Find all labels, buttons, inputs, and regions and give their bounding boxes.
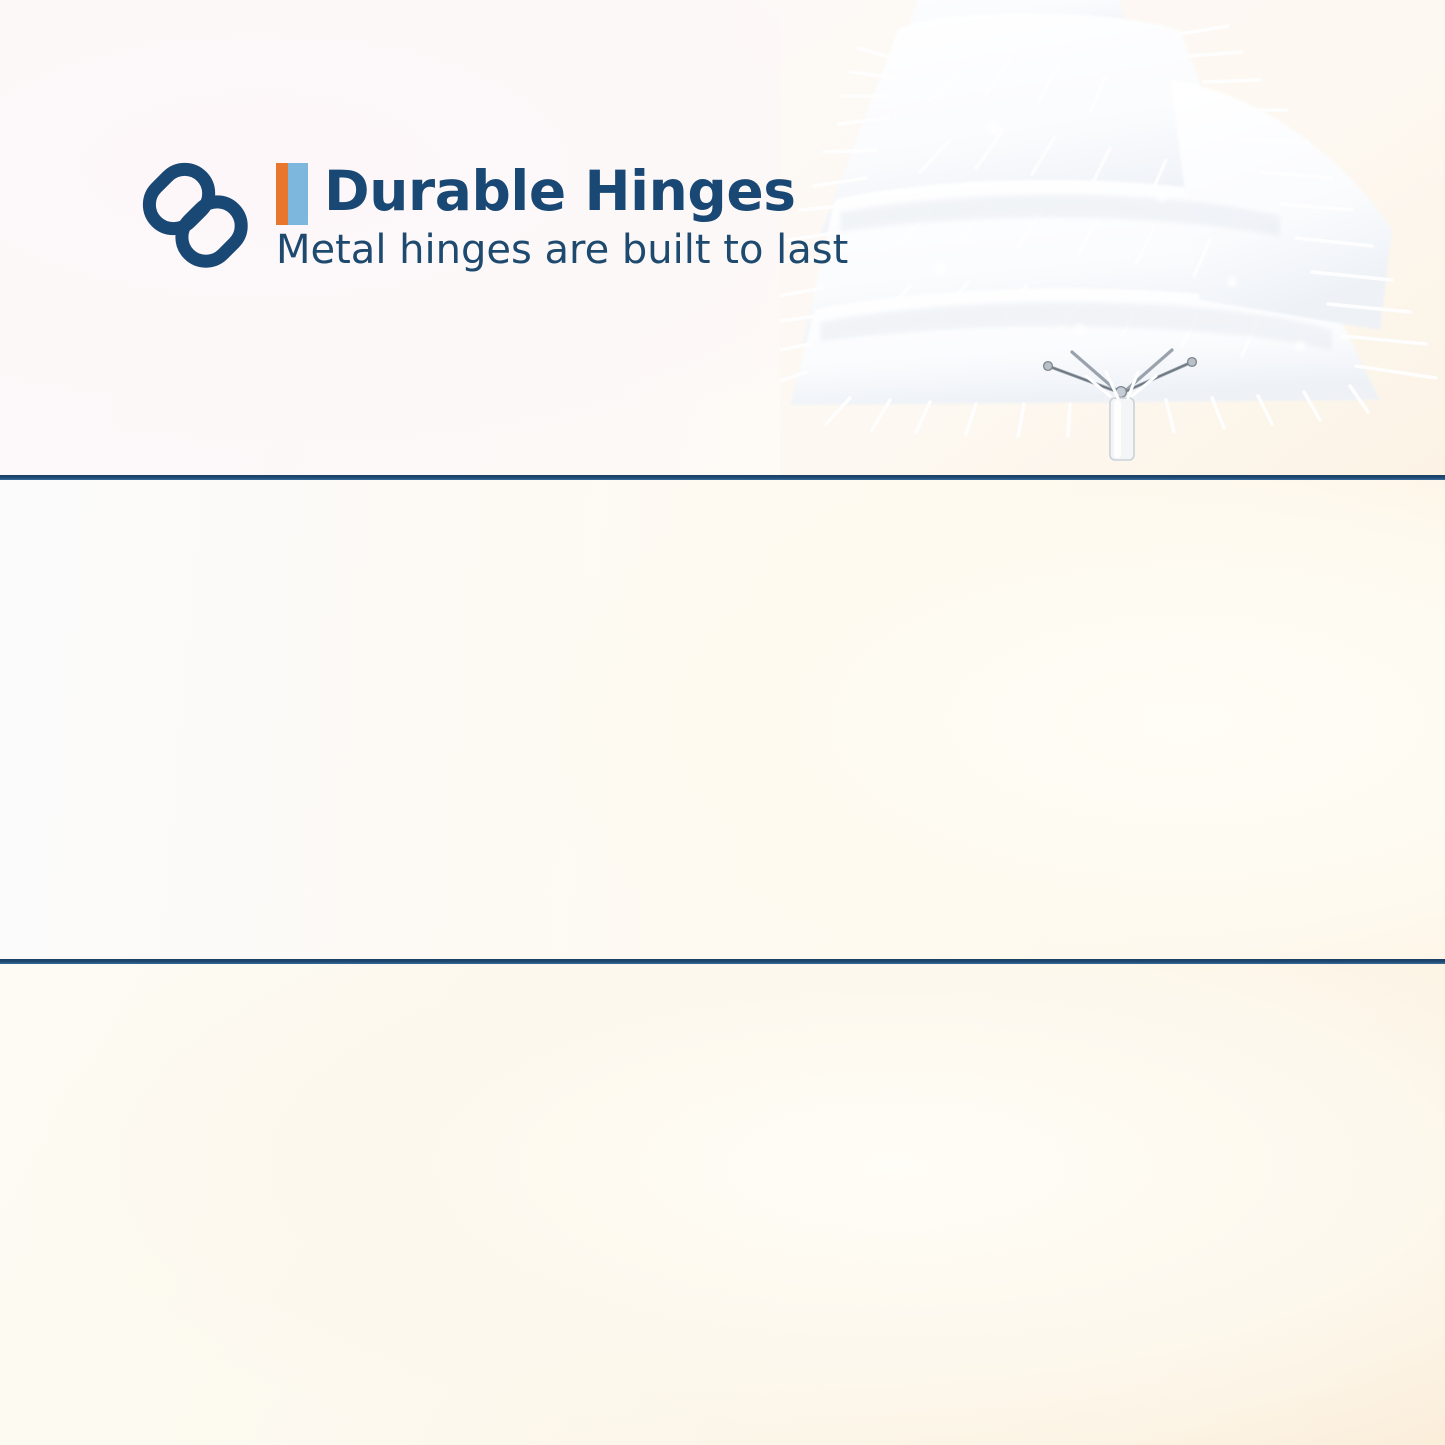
feature-panel-pvc: PVC Branches Realistic, Flame-retardant … (0, 480, 1445, 962)
feature-text-hinges: Durable Hinges Metal hinges are built to… (276, 158, 848, 275)
feature-block-hinges: Durable Hinges Metal hinges are built to… (138, 158, 848, 275)
feature-subtitle: Metal hinges are built to last (276, 227, 848, 273)
accent-bars (276, 163, 308, 225)
feature-panel-base: Sturdy Base Strong, stable stand (0, 964, 1445, 1445)
title-row-hinges: Durable Hinges (276, 160, 848, 225)
product-feature-infographic: Durable Hinges Metal hinges are built to… (0, 0, 1445, 1445)
feature-title: Durable Hinges (324, 160, 796, 225)
photo-white-christmas-tree (780, 0, 1445, 475)
chain-link-icon (138, 158, 254, 274)
feature-panel-hinges: Durable Hinges Metal hinges are built to… (0, 0, 1445, 478)
accent-bar-blue (288, 163, 308, 225)
accent-bar-orange (276, 163, 288, 225)
